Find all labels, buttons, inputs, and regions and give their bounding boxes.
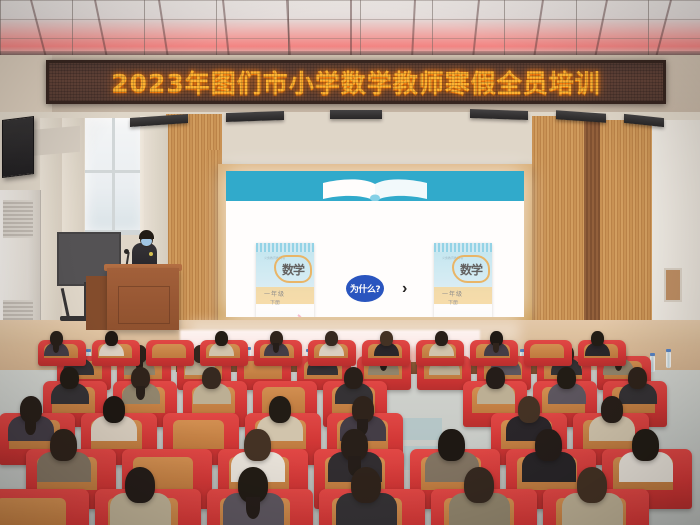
audience-member-head [591, 331, 604, 346]
audience-member-head [438, 429, 464, 461]
audience-member-head [380, 331, 393, 346]
audience-member-ponytail [136, 386, 145, 400]
arrow-right-icon: › [402, 281, 407, 297]
audience-member-head [269, 396, 291, 423]
audience-member-head [50, 429, 76, 461]
led-banner-text: 2023年图们市小学数学教师寒假全员培训 [49, 64, 663, 100]
window-mullion-h [85, 170, 145, 173]
audience-member-head [632, 429, 658, 461]
presenter-badge-icon [149, 252, 153, 256]
audience-member-head [486, 367, 505, 389]
audience-member-head [601, 396, 623, 423]
cover-volume-right: 下册 [448, 299, 458, 306]
cover-subject-right: 数学 [452, 255, 490, 283]
window-mullion-v [112, 118, 115, 233]
wood-wall-center-right [532, 116, 584, 326]
cover-volume-left: 下册 [270, 299, 280, 306]
audience-member-head [105, 331, 118, 346]
water-bottle-cap [666, 349, 671, 352]
audience-member-head [557, 367, 576, 389]
projection-screen[interactable]: 义务教育教科书 数学 一年级 下册 为什么? › 义务教育教科书 [226, 171, 524, 317]
audience-member-head [60, 367, 79, 389]
cover-subject-left: 数学 [274, 255, 312, 283]
audience-member-head [577, 467, 607, 503]
audience-seat-back [0, 498, 66, 525]
textbook-cover-left: 义务教育教科书 数学 一年级 下册 [256, 243, 314, 317]
wood-wall-dark-strip [584, 118, 600, 326]
audience-seat-back [152, 344, 185, 358]
audience-member-head [125, 467, 155, 503]
audience-seat-back [530, 344, 563, 358]
water-bottle-cap [86, 349, 91, 352]
cover-grade-right: 一年级 [442, 289, 463, 298]
ceiling-loudspeaker-icon [2, 116, 34, 178]
ceiling-light-bar-3 [330, 110, 382, 119]
wood-wall-right [600, 120, 652, 326]
auditorium-photo: 2023年图们市小学数学教师寒假全员培训 [0, 0, 700, 525]
presenter-hair [139, 230, 154, 239]
audience-member-head [215, 331, 228, 346]
audience-member-head [535, 429, 561, 461]
audience-member-head [518, 396, 540, 423]
audience-member-head [103, 396, 125, 423]
audience-member-head [628, 367, 647, 389]
audience-member-head [464, 467, 494, 503]
framed-picture [664, 268, 682, 302]
open-book-icon [319, 177, 431, 203]
floor-tile-a [398, 418, 442, 440]
audience-member-head [435, 331, 448, 346]
air-conditioner-vent-top [3, 200, 33, 238]
cover-stripe-right [434, 243, 492, 252]
audience-member-head [344, 367, 363, 389]
upper-wall-left [0, 55, 52, 117]
audience-member-head [244, 429, 270, 461]
audience-member-head [325, 331, 338, 346]
ceiling [0, 0, 700, 58]
cover-stripe-left [256, 243, 314, 252]
cover-illustration-left [256, 307, 314, 317]
cover-grade-left: 一年级 [264, 289, 285, 298]
water-bottle [666, 352, 671, 368]
audience-seat-back [173, 420, 224, 449]
podium-front-panel [118, 286, 170, 324]
window [85, 118, 145, 233]
why-badge: 为什么? [346, 275, 384, 302]
cover-illustration-right [434, 307, 492, 317]
led-banner: 2023年图们市小学数学教师寒假全员培训 [46, 60, 666, 104]
water-bottle-cap [650, 353, 655, 356]
microphone-head-icon [124, 249, 129, 254]
ceiling-beam [350, 0, 352, 58]
textbook-cover-right: 义务教育教科书 数学 一年级 下册 [434, 243, 492, 317]
ceiling-soffit [28, 126, 80, 157]
slide-body: 义务教育教科书 数学 一年级 下册 为什么? › 义务教育教科书 [226, 201, 524, 317]
audience-member-head [351, 467, 381, 503]
audience-member-head [202, 367, 221, 389]
